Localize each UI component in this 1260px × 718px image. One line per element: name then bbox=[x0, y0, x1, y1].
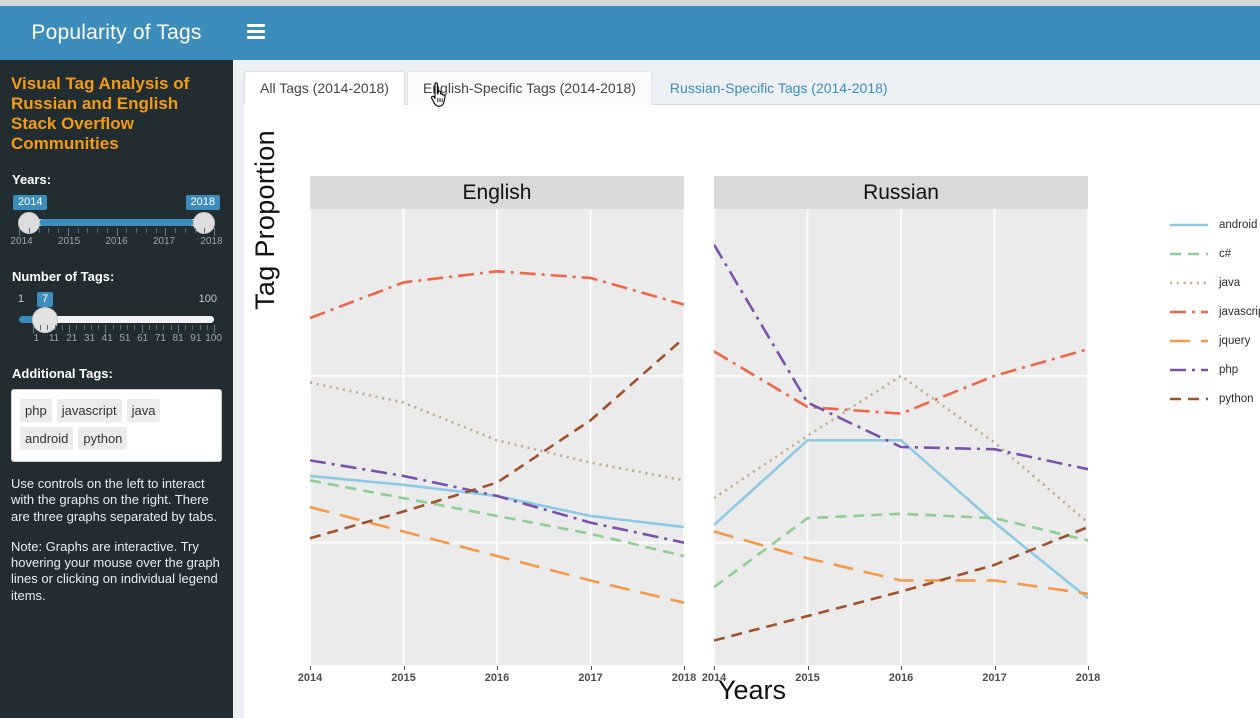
slider-scale-label: 2014 bbox=[10, 236, 32, 248]
slider-tick bbox=[19, 228, 20, 236]
legend-key-c# bbox=[1169, 249, 1209, 259]
slider-tick bbox=[97, 228, 98, 233]
legend-key-javascript bbox=[1169, 307, 1209, 317]
slider-tick bbox=[156, 228, 157, 233]
slider-tick bbox=[39, 228, 40, 233]
legend-item-javascript[interactable]: javascript bbox=[1169, 297, 1260, 326]
sidebar: Popularity of Tags Visual Tag Analysis o… bbox=[0, 6, 233, 718]
facet-strip-label: Russian bbox=[714, 176, 1088, 209]
x-axis: 20142015201620172018 bbox=[714, 669, 1088, 689]
slider-scale-label: 51 bbox=[119, 333, 130, 345]
slider-scale-label: 2016 bbox=[105, 236, 127, 248]
tag-chip[interactable]: android bbox=[20, 427, 73, 450]
legend-item-jquery[interactable]: jquery bbox=[1169, 326, 1260, 355]
legend-key-python bbox=[1169, 394, 1209, 404]
legend-key-java bbox=[1169, 278, 1209, 288]
slider-tick bbox=[120, 325, 121, 330]
x-axis-tick bbox=[497, 666, 498, 670]
slider-tick bbox=[149, 325, 150, 330]
years-fill bbox=[39, 219, 194, 226]
sidebar-heading: Visual Tag Analysis of Russian and Engli… bbox=[11, 74, 222, 154]
slider-scale-label: 11 bbox=[49, 333, 59, 345]
facet-english: English20142015201620172018 bbox=[310, 176, 684, 689]
slider-tick bbox=[146, 228, 147, 233]
x-axis-tick-label: 2018 bbox=[1076, 672, 1100, 684]
chart-region: Tag Proportion Years English201420152016… bbox=[244, 105, 1260, 718]
legend-label: java bbox=[1219, 277, 1240, 289]
x-axis: 20142015201620172018 bbox=[310, 669, 684, 689]
legend-label: php bbox=[1219, 364, 1238, 376]
tab-1[interactable]: All Tags (2014-2018) bbox=[244, 71, 405, 106]
slider-tick bbox=[98, 325, 99, 330]
slider-tick bbox=[68, 228, 69, 236]
tab-bar: All Tags (2014-2018)English-Specific Tag… bbox=[244, 71, 1260, 105]
facet-russian: Russian20142015201620172018 bbox=[714, 176, 1088, 689]
slider-scale-label: 81 bbox=[173, 333, 184, 345]
slider-scale-label: 91 bbox=[190, 333, 201, 345]
slider-tick bbox=[62, 325, 63, 330]
slider-tick bbox=[126, 228, 127, 233]
legend-key-android bbox=[1169, 220, 1209, 230]
additional-tags-box[interactable]: phpjavascriptjavaandroidpython bbox=[11, 389, 222, 462]
years-max-bubble: 2018 bbox=[186, 195, 220, 210]
tab-content: Tag Proportion Years English201420152016… bbox=[244, 105, 1260, 718]
slider-tick bbox=[87, 228, 88, 233]
slider-scale-label: 71 bbox=[155, 333, 166, 345]
hamburger-bar bbox=[247, 36, 265, 39]
slider-tick bbox=[48, 228, 49, 233]
slider-tick bbox=[76, 325, 77, 330]
x-axis-tick bbox=[808, 666, 809, 670]
years-scale: 20142015201620172018 bbox=[11, 236, 222, 248]
hamburger-bar bbox=[247, 24, 265, 27]
content-area: All Tags (2014-2018)English-Specific Tag… bbox=[233, 60, 1260, 718]
slider-tick bbox=[175, 228, 176, 233]
app-root: Popularity of Tags Visual Tag Analysis o… bbox=[0, 0, 1260, 718]
tagcount-ticks bbox=[33, 325, 214, 333]
legend-item-c#[interactable]: c# bbox=[1169, 239, 1260, 268]
slider-tick bbox=[40, 325, 41, 330]
tagcount-scale: 1112131415161718191100 bbox=[11, 333, 222, 345]
x-axis-tick bbox=[995, 666, 996, 670]
legend-item-java[interactable]: java bbox=[1169, 268, 1260, 297]
slider-tick bbox=[195, 228, 196, 233]
slider-scale-label: 1 bbox=[34, 333, 40, 345]
chart-y-axis-label: Tag Proportion bbox=[250, 125, 281, 315]
x-axis-tick-label: 2016 bbox=[485, 672, 509, 684]
brand-title: Popularity of Tags bbox=[0, 6, 233, 60]
slider-scale-label: 61 bbox=[137, 333, 148, 345]
tab-3[interactable]: Russian-Specific Tags (2014-2018) bbox=[654, 71, 904, 106]
sidebar-note-1: Use controls on the left to interact wit… bbox=[11, 476, 222, 525]
x-axis-tick bbox=[901, 666, 902, 670]
slider-tick bbox=[136, 228, 137, 233]
x-axis-tick-label: 2015 bbox=[795, 672, 819, 684]
x-axis-tick bbox=[591, 666, 592, 670]
slider-tick bbox=[165, 228, 166, 236]
slider-tick bbox=[117, 228, 118, 236]
tagcount-label: Number of Tags: bbox=[12, 269, 222, 284]
tab-panel: All Tags (2014-2018)English-Specific Tag… bbox=[244, 71, 1260, 718]
years-control: Years: 2014 2018 20142015201620172018 bbox=[11, 172, 222, 247]
tagcount-slider[interactable]: 1 7 100 1112131415161718191100 bbox=[11, 292, 222, 344]
tagcount-control: Number of Tags: 1 7 100 1112131415161718… bbox=[11, 269, 222, 344]
legend-label: jquery bbox=[1219, 335, 1250, 347]
facet-plot-area bbox=[714, 209, 1088, 665]
slider-tick bbox=[178, 325, 179, 333]
x-axis-tick bbox=[1088, 666, 1089, 670]
x-axis-tick-label: 2015 bbox=[391, 672, 415, 684]
slider-tick bbox=[207, 325, 208, 330]
slider-tick bbox=[91, 325, 92, 330]
x-axis-tick-label: 2016 bbox=[889, 672, 913, 684]
legend-label: c# bbox=[1219, 248, 1231, 260]
tag-chip[interactable]: javascript bbox=[57, 399, 122, 422]
x-axis-tick bbox=[310, 666, 311, 670]
hamburger-bar bbox=[247, 30, 265, 33]
tagcount-track[interactable] bbox=[33, 316, 214, 323]
slider-tick bbox=[142, 325, 143, 333]
slider-tick bbox=[33, 325, 34, 333]
slider-scale-label: 2015 bbox=[58, 236, 80, 248]
x-axis-tick-label: 2018 bbox=[672, 672, 696, 684]
facet-strip-label: English bbox=[310, 176, 684, 209]
years-ticks bbox=[19, 228, 214, 236]
x-axis-tick-label: 2014 bbox=[702, 672, 726, 684]
years-label: Years: bbox=[12, 172, 222, 187]
chart-legend: androidc#javajavascriptjqueryphppython bbox=[1169, 210, 1260, 413]
sidebar-notes: Use controls on the left to interact wit… bbox=[11, 476, 222, 604]
x-axis-tick-label: 2017 bbox=[578, 672, 602, 684]
slider-tick bbox=[185, 228, 186, 233]
top-header bbox=[233, 6, 1260, 60]
tagcount-min-bubble: 1 bbox=[15, 292, 27, 307]
legend-label: android bbox=[1219, 219, 1257, 231]
tagcount-max-bubble: 100 bbox=[196, 292, 220, 307]
slider-tick bbox=[47, 325, 48, 330]
slider-tick bbox=[156, 325, 157, 330]
slider-tick bbox=[134, 325, 135, 330]
slider-scale-label: 31 bbox=[84, 333, 95, 345]
slider-tick bbox=[113, 325, 114, 330]
additional-tags-control: Additional Tags: phpjavascriptjavaandroi… bbox=[11, 366, 222, 462]
hamburger-icon[interactable] bbox=[247, 24, 265, 40]
slider-scale-label: 41 bbox=[102, 333, 113, 345]
slider-tick bbox=[107, 228, 108, 233]
years-min-bubble: 2014 bbox=[13, 195, 47, 210]
slider-tick bbox=[58, 228, 59, 233]
slider-tick bbox=[69, 325, 70, 333]
sidebar-note-2: Note: Graphs are interactive. Try hoveri… bbox=[11, 539, 222, 604]
x-axis-tick bbox=[714, 666, 715, 670]
additional-tags-label: Additional Tags: bbox=[12, 366, 222, 381]
slider-scale-label: 2017 bbox=[153, 236, 175, 248]
slider-scale-label: 21 bbox=[66, 333, 77, 345]
years-slider[interactable]: 2014 2018 20142015201620172018 bbox=[11, 195, 222, 247]
legend-item-android[interactable]: android bbox=[1169, 210, 1260, 239]
legend-label: javascript bbox=[1219, 306, 1260, 318]
slider-tick bbox=[55, 325, 56, 330]
x-axis-tick-label: 2017 bbox=[982, 672, 1006, 684]
slider-tick bbox=[214, 228, 215, 236]
slider-tick bbox=[29, 228, 30, 233]
x-axis-tick bbox=[404, 666, 405, 670]
x-axis-tick bbox=[684, 666, 685, 670]
legend-key-php bbox=[1169, 365, 1209, 375]
slider-tick bbox=[105, 325, 106, 333]
tag-chip[interactable]: python bbox=[78, 427, 127, 450]
slider-tick bbox=[200, 325, 201, 330]
slider-tick bbox=[84, 325, 85, 330]
tag-chip[interactable]: java bbox=[127, 399, 161, 422]
legend-item-python[interactable]: python bbox=[1169, 384, 1260, 413]
tag-chip[interactable]: php bbox=[20, 399, 52, 422]
facet-plot-area bbox=[310, 209, 684, 665]
slider-scale-label: 2018 bbox=[200, 236, 222, 248]
slider-tick bbox=[163, 325, 164, 330]
x-axis-tick-label: 2014 bbox=[298, 672, 322, 684]
legend-label: python bbox=[1219, 393, 1254, 405]
tagcount-value-bubble: 7 bbox=[37, 292, 53, 307]
slider-tick bbox=[78, 228, 79, 233]
slider-tick bbox=[185, 325, 186, 330]
slider-tick bbox=[192, 325, 193, 330]
slider-tick bbox=[204, 228, 205, 233]
slider-tick bbox=[171, 325, 172, 330]
legend-key-jquery bbox=[1169, 336, 1209, 346]
slider-tick bbox=[127, 325, 128, 330]
legend-item-php[interactable]: php bbox=[1169, 355, 1260, 384]
tab-2[interactable]: English-Specific Tags (2014-2018) bbox=[407, 71, 652, 106]
slider-scale-label: 100 bbox=[205, 333, 222, 345]
slider-tick bbox=[214, 325, 215, 333]
